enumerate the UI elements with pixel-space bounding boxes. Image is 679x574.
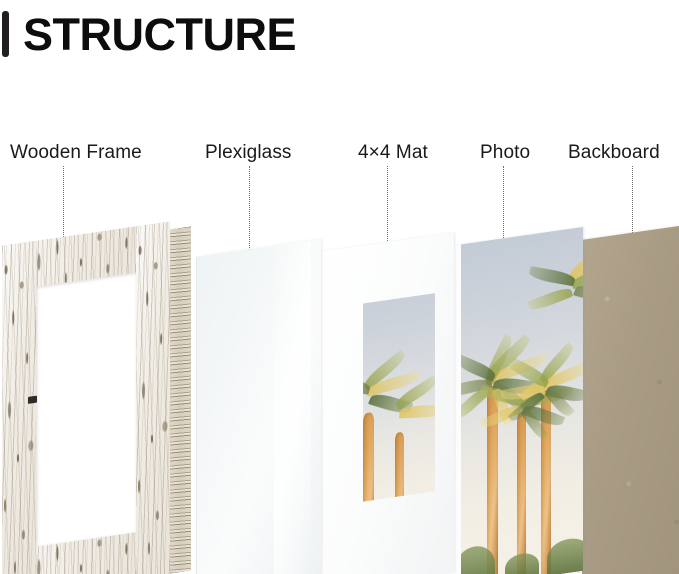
label-wooden-frame: Wooden Frame (10, 143, 142, 162)
plexiglass-sheen (274, 240, 311, 574)
label-mat: 4×4 Mat (358, 143, 428, 162)
label-plexiglass: Plexiglass (205, 143, 292, 162)
structure-infographic: STRUCTURE Wooden Frame Plexiglass 4×4 Ma… (0, 0, 679, 574)
component-wooden-frame (2, 218, 192, 574)
mat-window-photo-preview (363, 293, 435, 501)
component-photo (456, 227, 583, 574)
frame-rail-left (2, 241, 36, 574)
frame-rail-right (136, 221, 170, 574)
label-photo: Photo (480, 143, 530, 162)
component-backboard (578, 223, 679, 574)
frame-hardware-clip (28, 396, 37, 404)
title-text: STRUCTURE (23, 12, 296, 57)
component-mat (322, 232, 454, 574)
page-title: STRUCTURE (0, 8, 296, 60)
palm-tree-artwork (461, 227, 583, 574)
component-plexiglass (196, 239, 321, 574)
label-backboard: Backboard (568, 143, 660, 162)
title-accent-bar (2, 11, 9, 57)
frame-opening (36, 272, 136, 546)
mat-window-opening (363, 293, 435, 501)
